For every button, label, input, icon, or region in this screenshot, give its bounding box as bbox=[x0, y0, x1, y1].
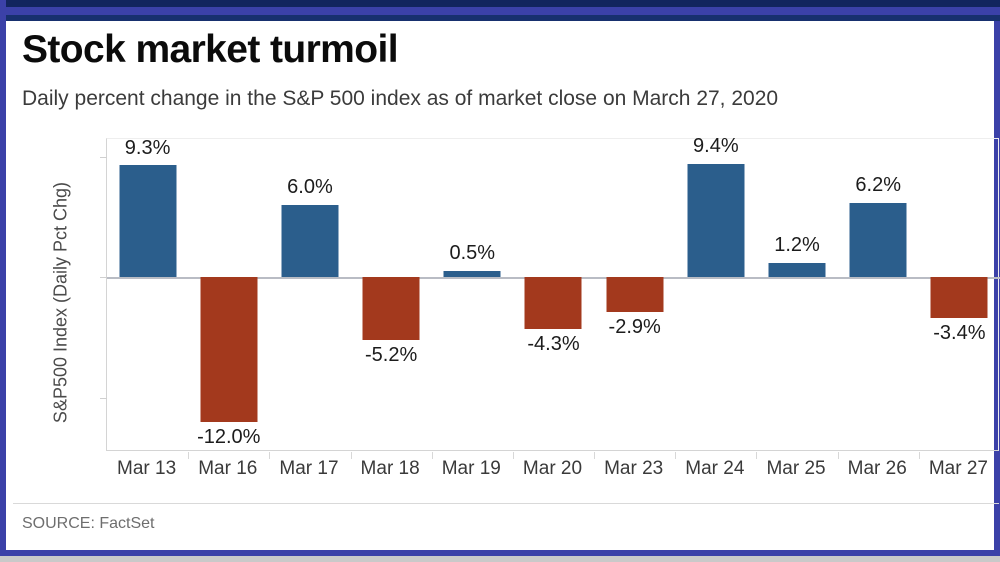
bar-slot: 6.2% bbox=[838, 139, 919, 452]
footer-divider bbox=[13, 503, 999, 504]
page-title: Stock market turmoil bbox=[22, 28, 398, 72]
y-axis-tick-mark bbox=[100, 398, 107, 399]
bar-value-label: 0.5% bbox=[450, 242, 496, 265]
bar-slot: -3.4% bbox=[919, 139, 1000, 452]
bar-value-label: -4.3% bbox=[527, 333, 579, 356]
bar-value-label: 6.0% bbox=[287, 176, 333, 199]
y-axis-title: S&P500 Index (Daily Pct Chg) bbox=[51, 153, 72, 453]
x-axis-category-label: Mar 13 bbox=[106, 458, 187, 480]
bar-slot: -5.2% bbox=[351, 139, 432, 452]
bar-value-label: 1.2% bbox=[774, 234, 820, 257]
bar-value-label: -5.2% bbox=[365, 344, 417, 367]
x-axis-category-label: Mar 27 bbox=[918, 458, 999, 480]
plot-area: 10%0%-10% 9.3%-12.0%6.0%-5.2%0.5%-4.3%-2… bbox=[106, 138, 999, 451]
source-note: SOURCE: FactSet bbox=[22, 515, 154, 533]
bar-value-label: 9.3% bbox=[125, 137, 171, 160]
x-axis-category-label: Mar 20 bbox=[512, 458, 593, 480]
x-axis-category-label: Mar 24 bbox=[674, 458, 755, 480]
bar-value-label: -3.4% bbox=[933, 322, 985, 345]
x-axis-category-label: Mar 26 bbox=[837, 458, 918, 480]
bar-value-label: 6.2% bbox=[855, 174, 901, 197]
bar[interactable] bbox=[931, 277, 988, 318]
bar[interactable] bbox=[444, 271, 501, 277]
x-axis-labels: Mar 13Mar 16Mar 17Mar 18Mar 19Mar 20Mar … bbox=[106, 458, 999, 488]
bar[interactable] bbox=[363, 277, 420, 340]
bar-value-label: 9.4% bbox=[693, 135, 739, 158]
x-axis-category-label: Mar 25 bbox=[755, 458, 836, 480]
bar-slot: 1.2% bbox=[756, 139, 837, 452]
x-axis-category-label: Mar 19 bbox=[431, 458, 512, 480]
frame-top-band-dark bbox=[6, 0, 1000, 7]
bar-slot: -2.9% bbox=[594, 139, 675, 452]
bar[interactable] bbox=[525, 277, 582, 329]
y-axis-tick-mark bbox=[100, 157, 107, 158]
bar[interactable] bbox=[687, 164, 744, 277]
page-subtitle: Daily percent change in the S&P 500 inde… bbox=[22, 87, 778, 111]
frame-top-band-accent bbox=[6, 7, 1000, 15]
bar-value-label: -2.9% bbox=[609, 316, 661, 339]
x-axis-category-label: Mar 16 bbox=[187, 458, 268, 480]
bar-slot: -4.3% bbox=[513, 139, 594, 452]
bar[interactable] bbox=[850, 203, 907, 278]
chart-figure: Stock market turmoil Daily percent chang… bbox=[0, 0, 1000, 556]
x-axis-category-label: Mar 18 bbox=[350, 458, 431, 480]
bar[interactable] bbox=[606, 277, 663, 312]
bar[interactable] bbox=[119, 165, 176, 277]
frame-top-band-navy bbox=[6, 15, 1000, 21]
bar-slot: -12.0% bbox=[188, 139, 269, 452]
bar-value-label: -12.0% bbox=[197, 426, 260, 449]
bar[interactable] bbox=[281, 205, 338, 277]
x-axis-category-label: Mar 17 bbox=[268, 458, 349, 480]
bar[interactable] bbox=[200, 277, 257, 421]
bar-slot: 0.5% bbox=[432, 139, 513, 452]
y-axis-tick-mark bbox=[100, 277, 107, 278]
x-axis-category-label: Mar 23 bbox=[593, 458, 674, 480]
bar-slot: 9.4% bbox=[675, 139, 756, 452]
bar-slot: 9.3% bbox=[107, 139, 188, 452]
bar-slot: 6.0% bbox=[269, 139, 350, 452]
bar[interactable] bbox=[769, 263, 826, 277]
bar-series: 9.3%-12.0%6.0%-5.2%0.5%-4.3%-2.9%9.4%1.2… bbox=[107, 139, 1000, 452]
